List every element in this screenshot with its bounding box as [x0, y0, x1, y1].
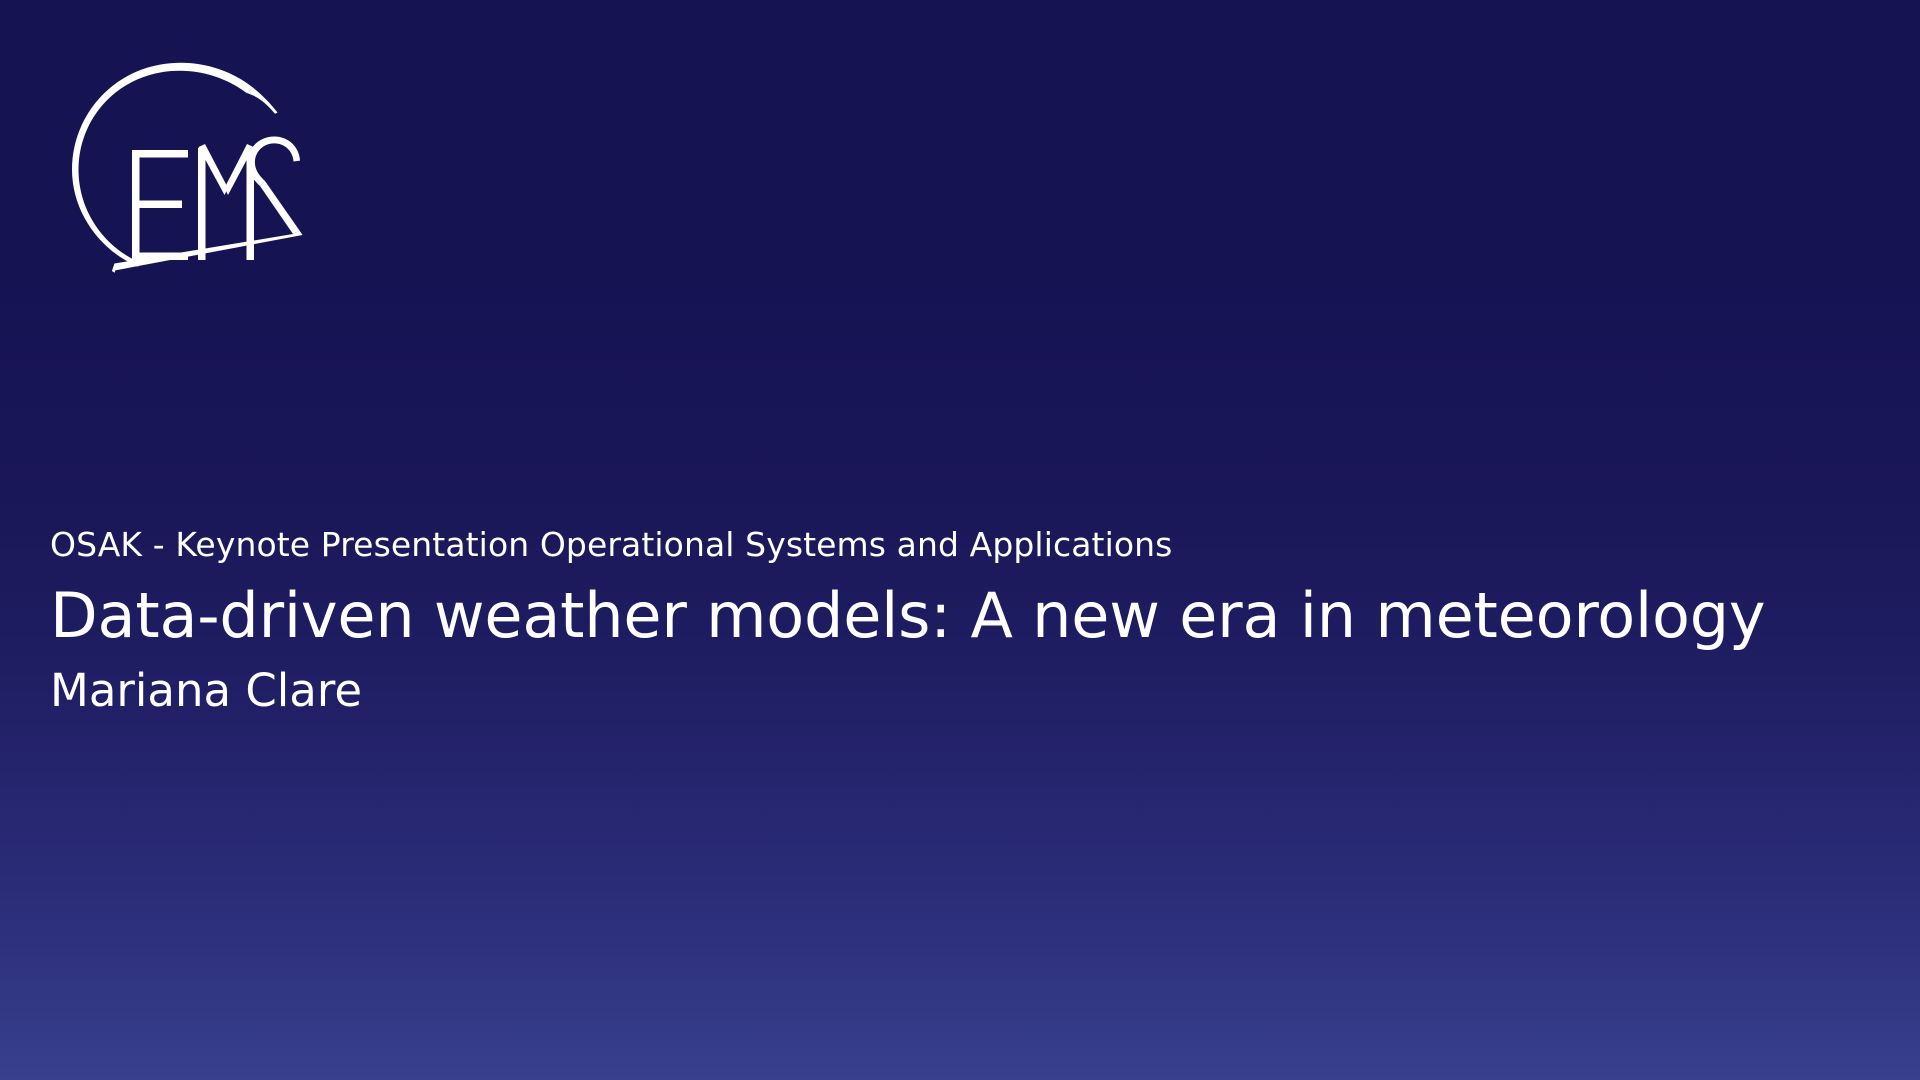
- logo-sweep-line: [112, 231, 303, 272]
- logo-letter-e: [132, 150, 188, 260]
- ems-logo-svg: [50, 36, 312, 298]
- logo-letter-s: [248, 136, 300, 186]
- logo-arc-tip-icon: [247, 88, 278, 114]
- logo-arc-icon: [72, 63, 253, 267]
- title-text-block: OSAK - Keynote Presentation Operational …: [50, 525, 1895, 718]
- logo-s-tail: [260, 181, 300, 234]
- ems-logo: [50, 36, 312, 298]
- title-slide: OSAK - Keynote Presentation Operational …: [0, 0, 1920, 1080]
- presentation-session-label: OSAK - Keynote Presentation Operational …: [50, 525, 1895, 565]
- author-name: Mariana Clare: [50, 664, 1895, 718]
- page-title: Data-driven weather models: A new era in…: [50, 579, 1895, 652]
